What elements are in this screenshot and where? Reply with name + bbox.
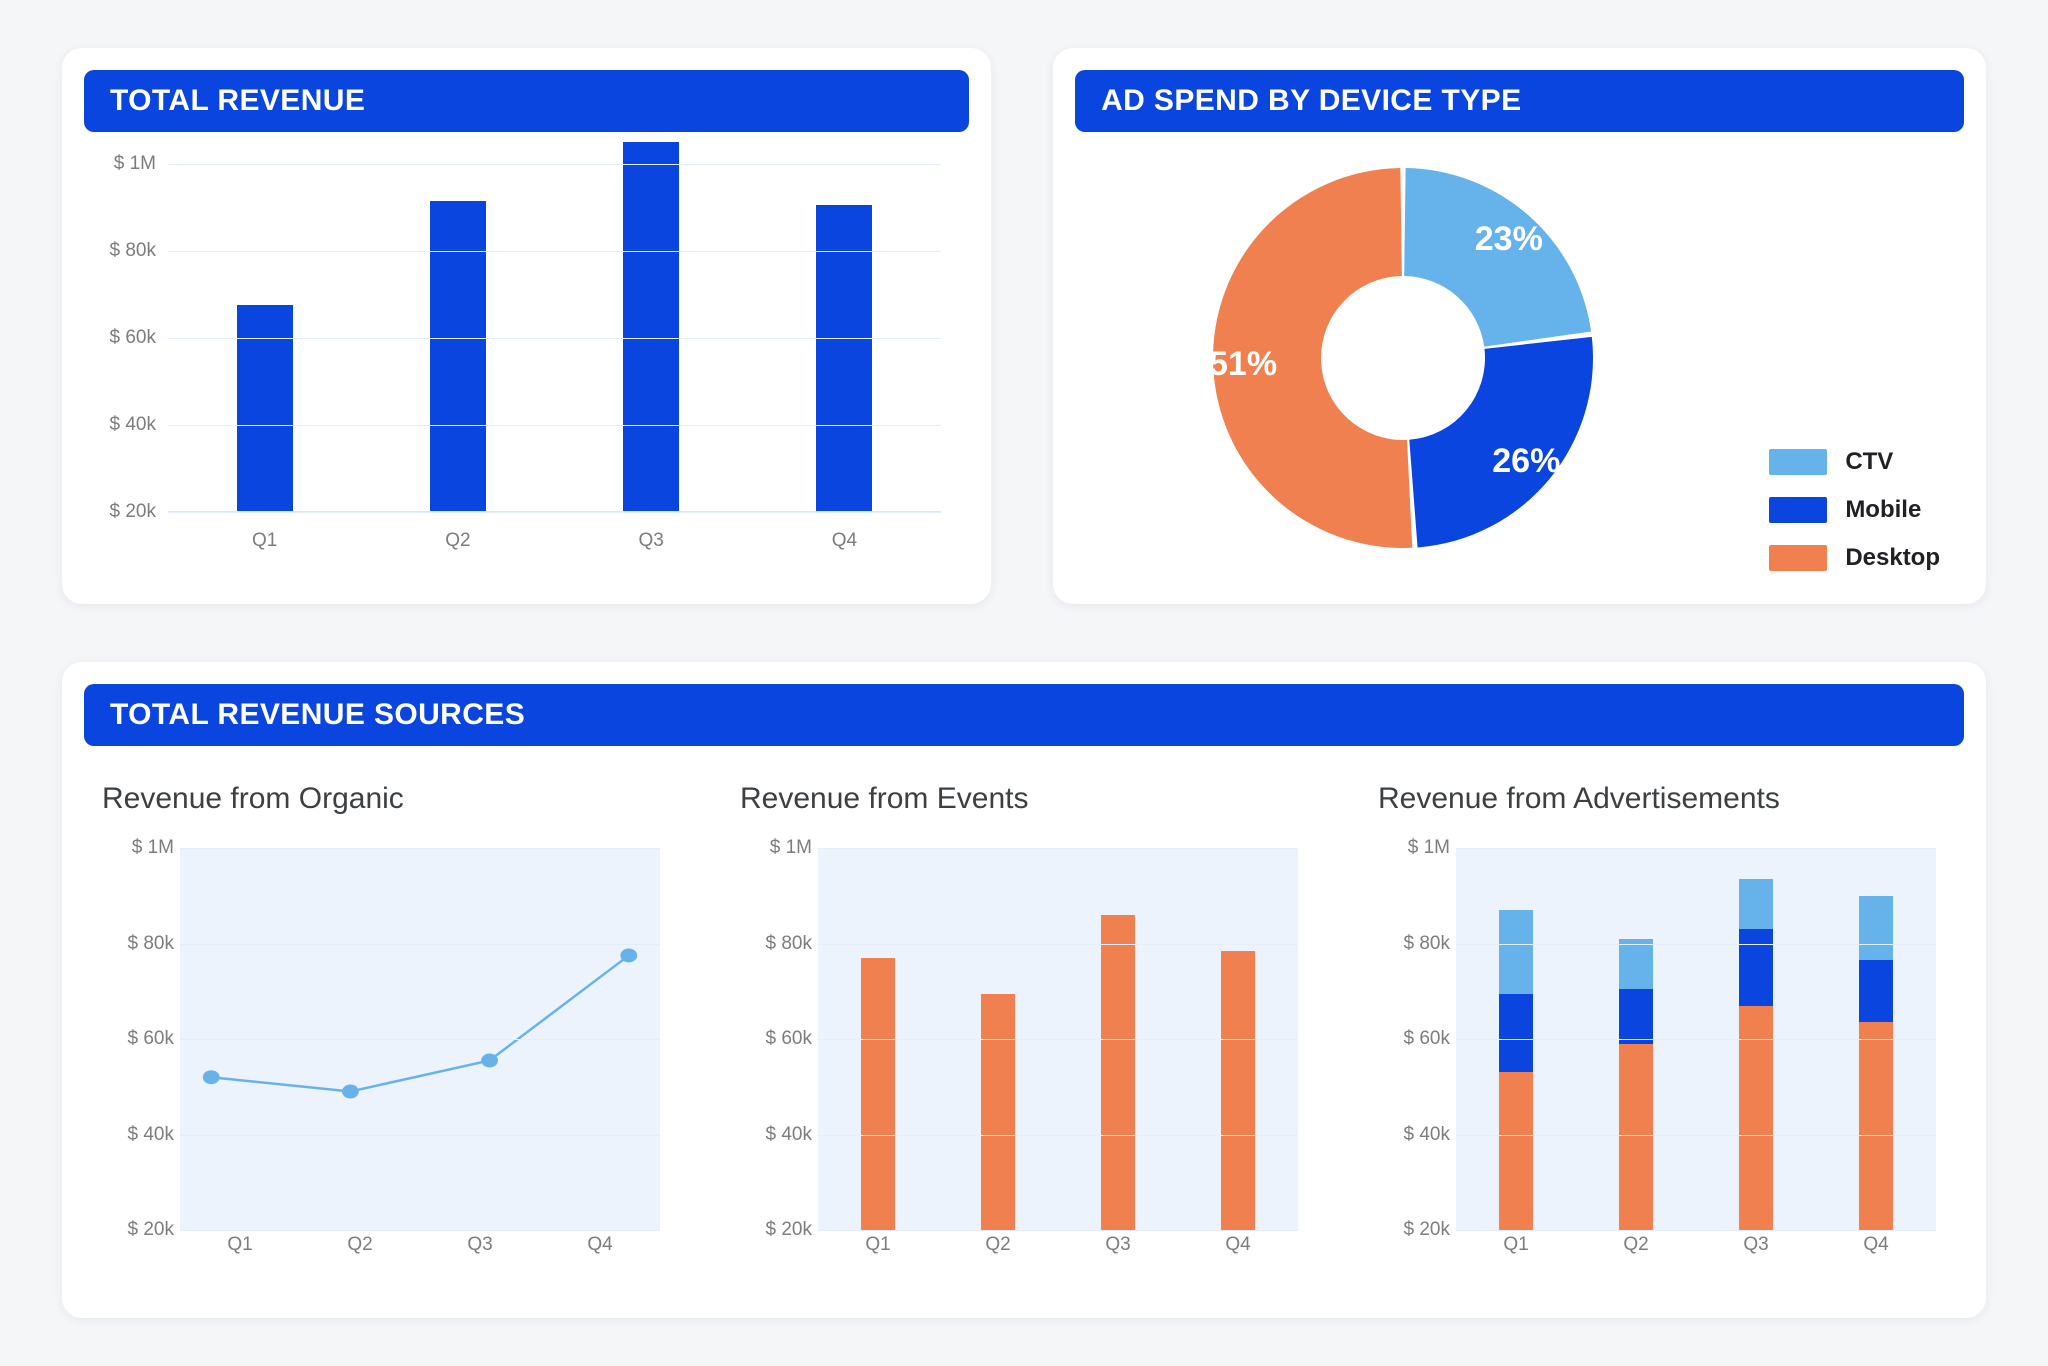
total-revenue-y-axis: $ 1M$ 80k$ 60k$ 40k$ 20k: [84, 146, 162, 576]
organic-revenue-line: [211, 955, 629, 1091]
revenue-organic-title: Revenue from Organic: [102, 782, 670, 816]
revenue-events-x-axis: Q1Q2Q3Q4: [818, 1234, 1298, 1256]
data-point-q3[interactable]: [481, 1053, 498, 1067]
gridline: [818, 1230, 1298, 1231]
y-axis-tick-label: $ 60k: [1404, 1028, 1450, 1050]
gridline: [1456, 1039, 1936, 1040]
bar-segment-ctv: [1739, 879, 1773, 929]
x-axis-tick-label: Q3: [555, 530, 748, 552]
gridline: [818, 944, 1298, 945]
x-axis-tick-label: Q4: [1178, 1234, 1298, 1256]
x-axis-tick-label: Q1: [180, 1234, 300, 1256]
bar-segment-ctv: [1619, 939, 1653, 989]
y-axis-tick-label: $ 1M: [770, 837, 812, 859]
total-revenue-x-axis: Q1Q2Q3Q4: [168, 530, 941, 552]
total-revenue-chart: $ 1M$ 80k$ 60k$ 40k$ 20k Q1Q2Q3Q4: [84, 146, 969, 576]
y-axis-tick-label: $ 80k: [128, 933, 174, 955]
gridline: [168, 338, 941, 339]
legend-swatch-icon: [1769, 497, 1827, 523]
y-axis-tick-label: $ 1M: [132, 837, 174, 859]
bar-segment: [1101, 915, 1135, 1230]
revenue-ads-title: Revenue from Advertisements: [1378, 782, 1946, 816]
bar-segment-mobile: [1739, 929, 1773, 1005]
y-axis-tick-label: $ 80k: [1404, 933, 1450, 955]
revenue-events-plot-area: [818, 848, 1298, 1230]
x-axis-tick-label: Q2: [1576, 1234, 1696, 1256]
legend-swatch-icon: [1769, 545, 1827, 571]
x-axis-tick-label: Q3: [1696, 1234, 1816, 1256]
legend-item-ctv[interactable]: CTV: [1769, 448, 1940, 476]
y-axis-tick-label: $ 20k: [128, 1219, 174, 1241]
revenue-events-title: Revenue from Events: [740, 782, 1308, 816]
bar-segment: [861, 958, 895, 1230]
y-axis-tick-label: $ 40k: [128, 1124, 174, 1146]
bar-segment-desktop: [1619, 1044, 1653, 1230]
y-axis-tick-label: $ 60k: [110, 327, 156, 349]
ads-stacked-bar-q3[interactable]: [1739, 879, 1773, 1230]
legend-label: Desktop: [1845, 544, 1940, 572]
ad-spend-header: AD SPEND BY DEVICE TYPE: [1075, 70, 1964, 132]
gridline: [180, 1039, 660, 1040]
donut-value-label: 26%: [1492, 442, 1560, 480]
revenue-sources-header: TOTAL REVENUE SOURCES: [84, 684, 1964, 746]
revenue-organic-plot-area: [180, 848, 660, 1230]
gridline: [168, 512, 941, 513]
events-bar-q3[interactable]: [1101, 915, 1135, 1230]
gridline: [168, 425, 941, 426]
gridline: [818, 848, 1298, 849]
revenue-organic-y-axis: $ 1M$ 80k$ 60k$ 40k$ 20k: [102, 838, 180, 1258]
y-axis-tick-label: $ 80k: [110, 240, 156, 262]
ads-stacked-bar-q4[interactable]: [1859, 896, 1893, 1230]
bar-segment-desktop: [1499, 1072, 1533, 1230]
ads-stacked-bar-q1[interactable]: [1499, 910, 1533, 1230]
x-axis-tick-label: Q1: [818, 1234, 938, 1256]
gridline: [168, 164, 941, 165]
data-point-q2[interactable]: [342, 1085, 359, 1099]
donut-value-label: 23%: [1475, 220, 1543, 258]
x-axis-tick-label: Q4: [540, 1234, 660, 1256]
revenue-sources-title: TOTAL REVENUE SOURCES: [110, 698, 525, 732]
y-axis-tick-label: $ 80k: [766, 933, 812, 955]
total-revenue-card: TOTAL REVENUE $ 1M$ 80k$ 60k$ 40k$ 20k Q…: [62, 48, 991, 604]
ads-stacked-bar-q2[interactable]: [1619, 939, 1653, 1230]
total-revenue-plot-area: [168, 164, 941, 512]
bar-segment-mobile: [1619, 989, 1653, 1044]
legend-item-mobile[interactable]: Mobile: [1769, 496, 1940, 524]
y-axis-tick-label: $ 40k: [110, 414, 156, 436]
bar-segment-desktop: [1859, 1022, 1893, 1230]
y-axis-tick-label: $ 60k: [766, 1028, 812, 1050]
y-axis-tick-label: $ 40k: [766, 1124, 812, 1146]
revenue-organic-x-axis: Q1Q2Q3Q4: [180, 1234, 660, 1256]
events-bar-q2[interactable]: [981, 994, 1015, 1230]
gridline: [180, 944, 660, 945]
bar-segment-ctv: [1499, 910, 1533, 994]
events-bar-q4[interactable]: [1221, 951, 1255, 1230]
revenue-ads-x-axis: Q1Q2Q3Q4: [1456, 1234, 1936, 1256]
revenue-sources-card: TOTAL REVENUE SOURCES Revenue from Organ…: [62, 662, 1986, 1318]
x-axis-tick-label: Q2: [300, 1234, 420, 1256]
x-axis-tick-label: Q3: [420, 1234, 540, 1256]
gridline: [1456, 1135, 1936, 1136]
revenue-bar-q2[interactable]: [430, 201, 486, 512]
data-point-q1[interactable]: [203, 1070, 220, 1084]
gridline: [818, 1135, 1298, 1136]
bar-segment-mobile: [1859, 960, 1893, 1022]
revenue-bar-q1[interactable]: [237, 305, 293, 512]
revenue-events-y-axis: $ 1M$ 80k$ 60k$ 40k$ 20k: [740, 838, 818, 1258]
revenue-bar-q3[interactable]: [623, 142, 679, 512]
legend-label: CTV: [1845, 448, 1893, 476]
total-revenue-title: TOTAL REVENUE: [110, 84, 365, 118]
legend-item-desktop[interactable]: Desktop: [1769, 544, 1940, 572]
y-axis-tick-label: $ 20k: [1404, 1219, 1450, 1241]
revenue-organic-chart: $ 1M$ 80k$ 60k$ 40k$ 20k Q1Q2Q3Q4: [102, 838, 670, 1258]
dashboard-page: TOTAL REVENUE $ 1M$ 80k$ 60k$ 40k$ 20k Q…: [0, 0, 2048, 1366]
gridline: [1456, 944, 1936, 945]
x-axis-tick-label: Q4: [1816, 1234, 1936, 1256]
revenue-events-chart: $ 1M$ 80k$ 60k$ 40k$ 20k Q1Q2Q3Q4: [740, 838, 1308, 1258]
bar-segment-ctv: [1859, 896, 1893, 960]
gridline: [180, 1135, 660, 1136]
donut-value-label: 51%: [1209, 345, 1277, 383]
y-axis-tick-label: $ 1M: [114, 153, 156, 175]
events-bar-q1[interactable]: [861, 958, 895, 1230]
y-axis-tick-label: $ 20k: [110, 501, 156, 523]
ad-spend-legend: CTVMobileDesktop: [1769, 448, 1940, 572]
y-axis-tick-label: $ 60k: [128, 1028, 174, 1050]
bar-segment: [1221, 951, 1255, 1230]
y-axis-tick-label: $ 40k: [1404, 1124, 1450, 1146]
legend-label: Mobile: [1845, 496, 1921, 524]
x-axis-tick-label: Q3: [1058, 1234, 1178, 1256]
revenue-ads-y-axis: $ 1M$ 80k$ 60k$ 40k$ 20k: [1378, 838, 1456, 1258]
ad-spend-donut-chart: 23%26%51%: [1203, 158, 1603, 558]
data-point-q4[interactable]: [620, 948, 637, 962]
legend-swatch-icon: [1769, 449, 1827, 475]
gridline: [1456, 848, 1936, 849]
revenue-ads-chart: $ 1M$ 80k$ 60k$ 40k$ 20k Q1Q2Q3Q4: [1378, 838, 1946, 1258]
y-axis-tick-label: $ 20k: [766, 1219, 812, 1241]
ad-spend-title: AD SPEND BY DEVICE TYPE: [1101, 84, 1521, 118]
x-axis-tick-label: Q2: [361, 530, 554, 552]
y-axis-tick-label: $ 1M: [1408, 837, 1450, 859]
x-axis-tick-label: Q1: [1456, 1234, 1576, 1256]
x-axis-tick-label: Q1: [168, 530, 361, 552]
gridline: [168, 251, 941, 252]
revenue-ads-column: Revenue from Advertisements $ 1M$ 80k$ 6…: [1378, 782, 1946, 1258]
gridline: [1456, 1230, 1936, 1231]
revenue-sources-body: Revenue from Organic $ 1M$ 80k$ 60k$ 40k…: [84, 756, 1964, 1258]
gridline: [180, 1230, 660, 1231]
bar-segment-mobile: [1499, 994, 1533, 1073]
top-row: TOTAL REVENUE $ 1M$ 80k$ 60k$ 40k$ 20k Q…: [62, 48, 1986, 604]
bar-segment: [981, 994, 1015, 1230]
revenue-events-column: Revenue from Events $ 1M$ 80k$ 60k$ 40k$…: [740, 782, 1308, 1258]
gridline: [818, 1039, 1298, 1040]
x-axis-tick-label: Q4: [748, 530, 941, 552]
revenue-ads-plot-area: [1456, 848, 1936, 1230]
gridline: [180, 848, 660, 849]
ad-spend-card: AD SPEND BY DEVICE TYPE 23%26%51% CTVMob…: [1053, 48, 1986, 604]
total-revenue-header: TOTAL REVENUE: [84, 70, 969, 132]
revenue-organic-column: Revenue from Organic $ 1M$ 80k$ 60k$ 40k…: [102, 782, 670, 1258]
x-axis-tick-label: Q2: [938, 1234, 1058, 1256]
